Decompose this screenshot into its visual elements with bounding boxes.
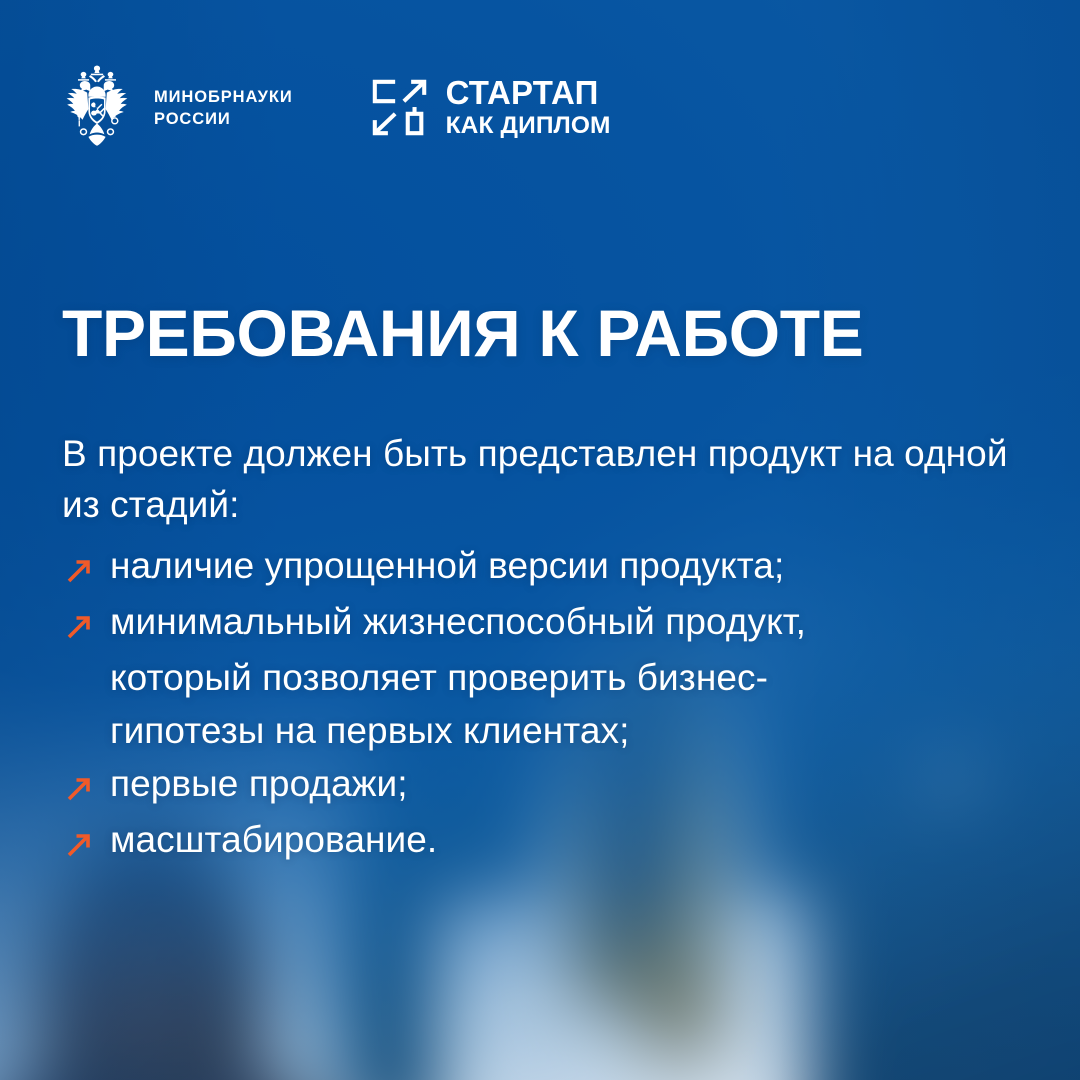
list-item-label: наличие упрощенной версии продукта; xyxy=(110,540,784,591)
lede-text: В проекте должен быть представлен продук… xyxy=(62,428,1012,530)
list-item-continuation: гипотезы на первых клиентах; xyxy=(62,705,1012,756)
arrow-up-right-icon xyxy=(62,814,96,868)
list-item-label: который позволяет проверить бизнес- xyxy=(110,652,768,703)
list-item-label: минимальный жизнеспособный продукт, xyxy=(110,596,806,647)
list-item: наличие упрощенной версии продукта; xyxy=(62,540,1012,594)
list-item: минимальный жизнеспособный продукт, xyxy=(62,596,1012,650)
list-item-label: масштабирование. xyxy=(110,814,437,865)
list-item: первые продажи; xyxy=(62,758,1012,812)
arrow-up-right-icon xyxy=(62,758,96,812)
arrow-up-right-icon xyxy=(62,540,96,594)
startup-as-diploma-logo: СТАРТАП КАК ДИПЛОМ xyxy=(369,77,611,139)
arrow-up-right-icon xyxy=(62,596,96,650)
ministry-name: МИНОБРНАУКИ РОССИИ xyxy=(154,86,293,130)
promo-card: МИНОБРНАУКИ РОССИИ xyxy=(0,0,1080,1080)
logo-line-startup: СТАРТАП xyxy=(446,77,611,109)
list-item: масштабирование. xyxy=(62,814,1012,868)
body-content: В проекте должен быть представлен продук… xyxy=(62,428,1012,870)
startup-as-diploma-mark xyxy=(369,77,431,139)
logo-line-as-diploma: КАК ДИПЛОМ xyxy=(446,113,611,139)
brand-bar: МИНОБРНАУКИ РОССИИ xyxy=(60,62,611,154)
list-item-continuation: который позволяет проверить бизнес- xyxy=(62,652,1012,703)
list-item-label: первые продажи; xyxy=(110,758,408,809)
russian-double-headed-eagle-emblem xyxy=(60,62,134,154)
list-item-label: гипотезы на первых клиентах; xyxy=(110,705,629,756)
page-title: ТРЕБОВАНИЯ К РАБОТЕ xyxy=(62,300,863,366)
requirements-list: наличие упрощенной версии продукта;миним… xyxy=(62,540,1012,868)
